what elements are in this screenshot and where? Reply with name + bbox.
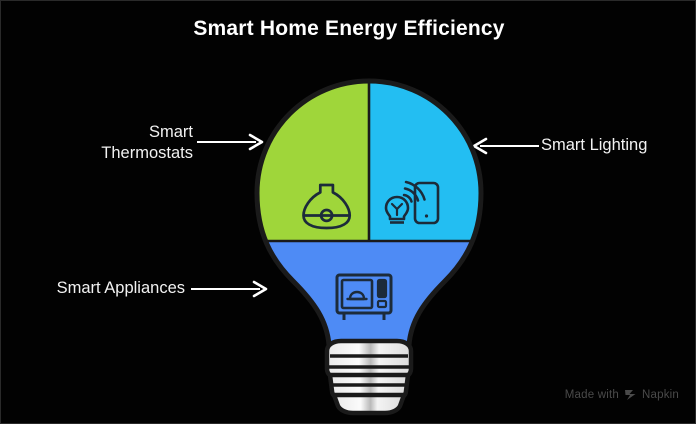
- light-bulb-svg: [249, 73, 489, 418]
- segment-label-lighting: Smart Lighting: [541, 135, 696, 156]
- segment-label-appliances: Smart Appliances: [5, 278, 185, 299]
- segment-label-thermostats: Smart Thermostats: [13, 122, 193, 164]
- napkin-logo-icon: [624, 388, 637, 401]
- light-bulb-diagram: [249, 73, 489, 418]
- napkin-watermark: Made with Napkin: [565, 388, 679, 401]
- watermark-prefix: Made with: [565, 389, 619, 401]
- bulb-screw-base: [327, 341, 411, 413]
- page-title: Smart Home Energy Efficiency: [1, 17, 696, 41]
- watermark-brand: Napkin: [642, 389, 679, 401]
- diagram-canvas: Smart Home Energy Efficiency Smart Therm…: [0, 0, 696, 424]
